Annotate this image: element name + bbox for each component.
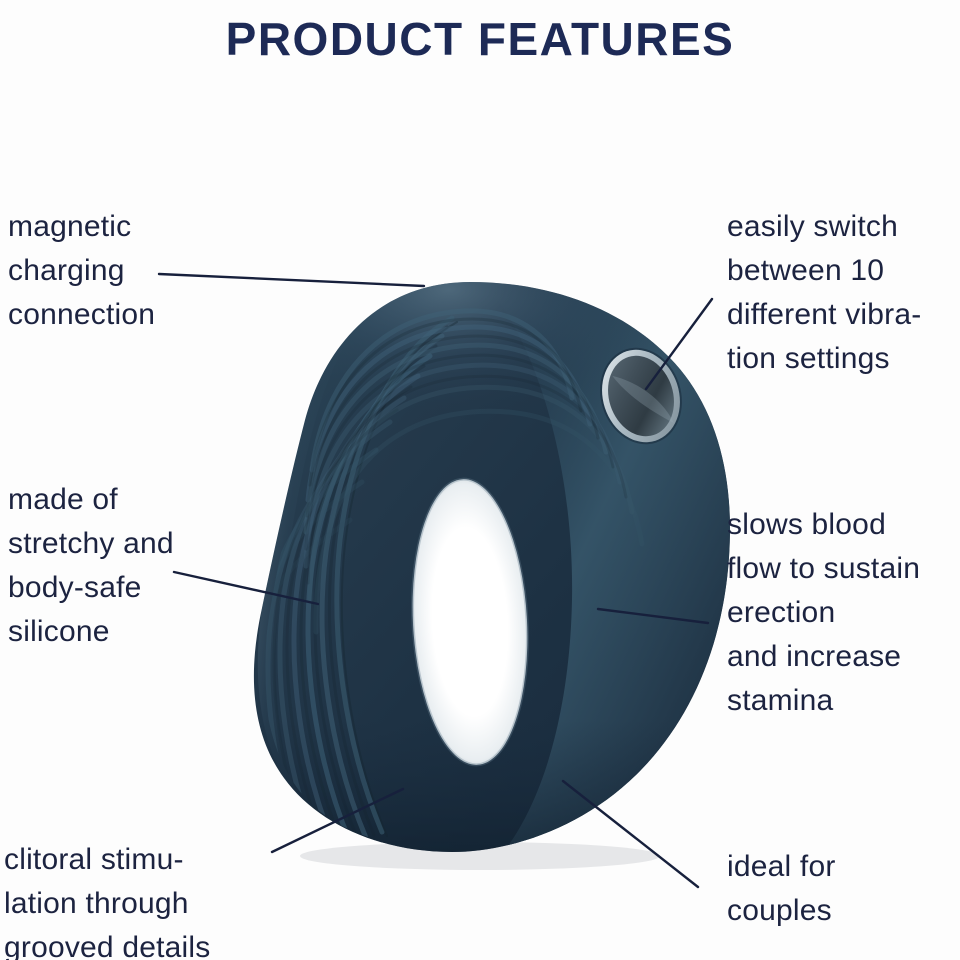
callout-vibration-settings: easily switch between 10 different vibra… [727, 205, 959, 381]
callout-magnetic-charging-connection: magnetic charging connection [8, 205, 268, 337]
leader-line-bloodflow [598, 609, 708, 623]
leader-line-vibration [646, 299, 712, 389]
callout-clitoral-stimulation: clitoral stimu- lation through grooved d… [4, 838, 274, 960]
callout-slows-blood-flow: slows blood flow to sustain erection and… [727, 503, 959, 723]
callout-ideal-for-couples: ideal for couples [727, 845, 959, 933]
product-features-infographic: PRODUCT FEATURES [0, 0, 960, 960]
leader-line-clitoral [272, 789, 403, 852]
callout-body-safe-silicone: made of stretchy and body-safe silicone [8, 478, 258, 654]
leader-line-couples [563, 781, 698, 887]
